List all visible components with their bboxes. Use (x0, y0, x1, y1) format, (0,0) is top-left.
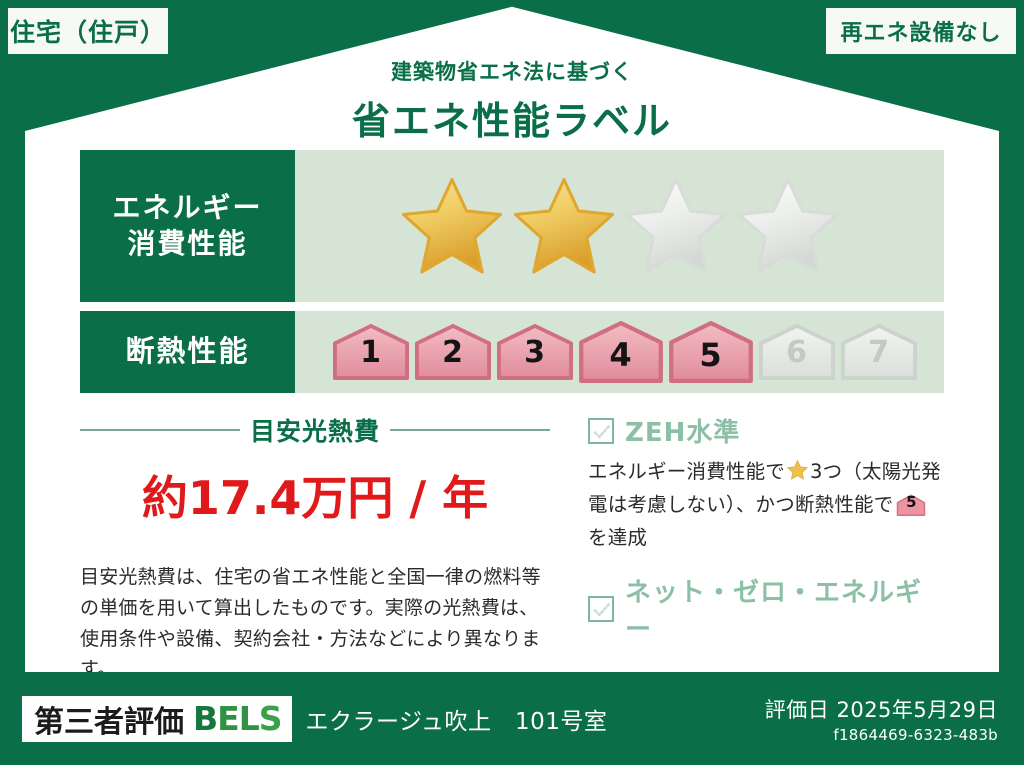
energy-performance-label-line1: エネルギー (112, 190, 262, 226)
evaluation-id: f1864469-6323-483b (765, 726, 998, 744)
energy-performance-label: エネルギー 消費性能 (80, 150, 295, 302)
energy-performance-row: エネルギー 消費性能 (80, 150, 944, 302)
insulation-performance-label: 断熱性能 (80, 311, 295, 393)
heading-rule-right (390, 429, 550, 431)
star-icon (786, 459, 809, 481)
bels-letter: L (239, 699, 259, 738)
insulation-level-chip-value: 3 (524, 338, 545, 380)
energy-performance-label-line2: 消費性能 (127, 226, 247, 262)
energy-cost-value: 約17.4万円 / 年 (80, 462, 550, 528)
bels-letter: E (217, 699, 239, 738)
bels-badge-jp: 第三者評価 (34, 697, 184, 741)
footer: 第三者評価 BELS エクラージュ吹上 101号室 評価日 2025年5月29日… (0, 672, 1024, 765)
net-zero-energy-label: ネット・ゼロ・エネルギー (625, 572, 944, 646)
insulation-level-chip-5: 5 (668, 321, 754, 383)
check-box-icon[interactable] (588, 418, 614, 444)
insulation-level-chip-value: 2 (442, 338, 463, 380)
document-type-tag-label: 住宅（住戸） (10, 13, 166, 49)
net-zero-energy-row: ネット・ゼロ・エネルギー (588, 572, 944, 646)
insulation-level-chip-2: 2 (414, 324, 492, 380)
insulation-level-chip-7: 7 (840, 324, 918, 380)
renewable-energy-tag: 再エネ設備なし (826, 8, 1016, 54)
bels-letter: B (193, 699, 217, 738)
insulation-level-badge: 5 (896, 494, 926, 516)
zeh-description-part3: を達成 (588, 526, 647, 549)
evaluation-date: 評価日 2025年5月29日 (765, 694, 998, 724)
insulation-performance-label-text: 断熱性能 (125, 333, 249, 370)
energy-cost-column: 目安光熱費 約17.4万円 / 年 目安光熱費は、住宅の省エネ性能と全国一律の燃… (80, 412, 550, 654)
lower-section: 目安光熱費 約17.4万円 / 年 目安光熱費は、住宅の省エネ性能と全国一律の燃… (80, 412, 944, 654)
star-icon-empty (734, 174, 842, 278)
check-box-icon[interactable] (588, 596, 614, 622)
evaluation-info: 評価日 2025年5月29日 f1864469-6323-483b (765, 694, 998, 744)
insulation-level-chip-3: 3 (496, 324, 574, 380)
energy-performance-stars (295, 150, 944, 302)
insulation-performance-scale: 1234567 (295, 311, 944, 393)
zeh-description-part1: エネルギー消費性能で (588, 460, 785, 483)
heading-rule-left (80, 429, 240, 431)
spacer (588, 554, 944, 572)
star-icon-filled (398, 174, 506, 278)
bels-badge: 第三者評価 BELS (22, 696, 292, 742)
zeh-standard-label: ZEH水準 (625, 412, 740, 449)
zeh-description: エネルギー消費性能で3つ（太陽光発電は考慮しない）、かつ断熱性能で5を達成 (588, 456, 944, 554)
page-title-main: 省エネ性能ラベル (25, 90, 999, 145)
renewable-energy-tag-label: 再エネ設備なし (840, 15, 1001, 47)
energy-cost-note: 目安光熱費は、住宅の省エネ性能と全国一律の燃料等の単価を用いて算出したものです。… (80, 562, 550, 685)
insulation-level-chip-value: 5 (699, 339, 721, 383)
bels-badge-en: BELS (193, 699, 282, 738)
insulation-level-chip-value: 1 (360, 338, 381, 380)
insulation-level-chip-value: 6 (786, 338, 807, 380)
star-icon-filled (510, 174, 618, 278)
building-name: エクラージュ吹上 101号室 (306, 702, 608, 736)
zeh-column: ZEH水準 エネルギー消費性能で3つ（太陽光発電は考慮しない）、かつ断熱性能で5… (550, 412, 944, 654)
label-body-panel: 建築物省エネ法に基づく 省エネ性能ラベル エネルギー 消費性能 断熱性能 123… (25, 0, 999, 672)
page-title: 建築物省エネ法に基づく 省エネ性能ラベル (25, 56, 999, 145)
bels-letter: S (259, 699, 282, 738)
insulation-level-badge-value: 5 (896, 490, 926, 515)
insulation-level-chip-value: 7 (868, 338, 889, 380)
energy-cost-heading-text: 目安光熱費 (250, 412, 380, 448)
star-icon-empty (622, 174, 730, 278)
insulation-performance-row: 断熱性能 1234567 (80, 311, 944, 393)
performance-rows: エネルギー 消費性能 断熱性能 1234567 (80, 150, 944, 402)
page-subtitle: 建築物省エネ法に基づく (25, 56, 999, 86)
insulation-level-chip-value: 4 (609, 339, 631, 383)
insulation-level-chip-6: 6 (758, 324, 836, 380)
energy-cost-heading: 目安光熱費 (80, 412, 550, 448)
insulation-level-chip-1: 1 (332, 324, 410, 380)
insulation-level-chip-4: 4 (578, 321, 664, 383)
zeh-standard-row: ZEH水準 (588, 412, 944, 449)
document-type-tag: 住宅（住戸） (8, 8, 168, 54)
